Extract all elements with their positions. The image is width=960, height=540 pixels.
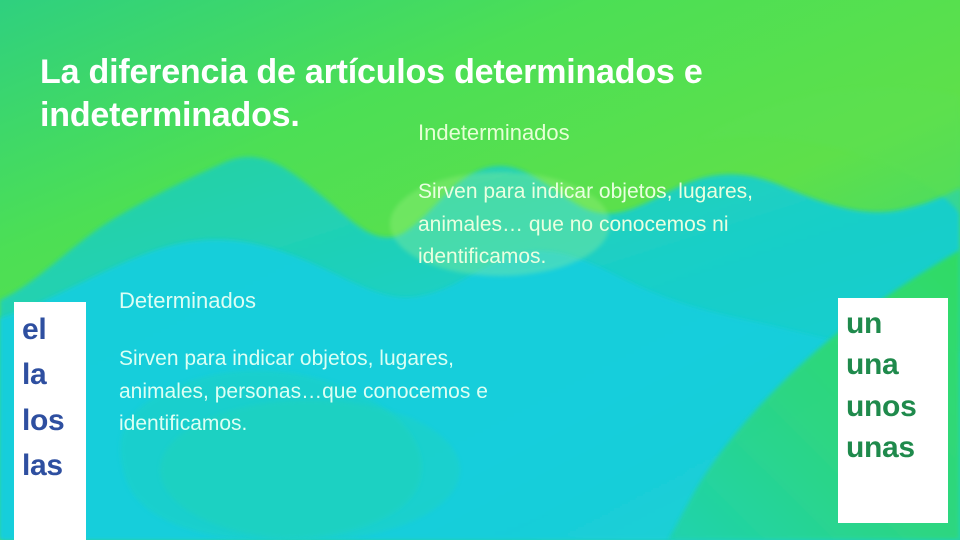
- indefinite-article-word: un: [846, 306, 948, 341]
- indefinite-articles-panel: un una unos unas: [838, 298, 948, 523]
- definite-article-word: el: [22, 312, 86, 347]
- slide-canvas: La diferencia de artículos determinados …: [0, 0, 960, 540]
- definite-articles-panel: el la los las: [14, 302, 86, 540]
- definite-article-word: los: [22, 403, 86, 438]
- definite-article-word: las: [22, 448, 86, 483]
- indefinite-article-word: una: [846, 347, 948, 382]
- indeterminate-heading: Indeterminados: [418, 120, 570, 146]
- indefinite-article-word: unos: [846, 389, 948, 424]
- definite-article-word: la: [22, 357, 86, 392]
- indeterminate-description: Sirven para indicar objetos, lugares, an…: [418, 176, 838, 274]
- determinate-description: Sirven para indicar objetos, lugares, an…: [119, 343, 489, 441]
- determinate-heading: Determinados: [119, 288, 256, 314]
- indefinite-article-word: unas: [846, 430, 948, 465]
